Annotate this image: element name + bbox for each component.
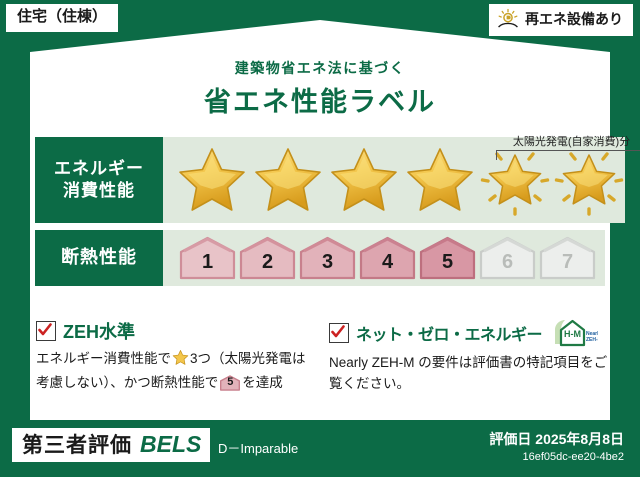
renewable-equipment-badge: 再エネ設備あり: [489, 4, 633, 36]
insulation-badge: 5: [419, 236, 476, 280]
star-icon: [327, 143, 401, 217]
zeh-standard-description: エネルギー消費性能で3つ（太陽光発電は考慮しない）、かつ断熱性能で5を達成: [36, 349, 315, 394]
label-subtitle: 建築物省エネ法に基づく: [0, 58, 640, 78]
evaluation-id: 16ef05dc-ee20-4be2: [522, 452, 624, 463]
star-icon: [175, 143, 249, 217]
label-footer: 第三者評価 BELS D－Imparable 評価日 2025年8月8日 16e…: [0, 420, 640, 477]
insulation-badge-inactive: 7: [539, 236, 596, 280]
insulation-badge-number: 7: [562, 252, 573, 280]
insulation-badge-number: 4: [382, 252, 393, 280]
energy-performance-stars-panel: 太陽光発電(自家消費)分: [163, 137, 625, 223]
insulation-badge: 3: [299, 236, 356, 280]
star-filled: [251, 143, 325, 217]
insulation-label-line1: 断熱性能: [61, 246, 137, 269]
check-icon-svg: [38, 323, 52, 337]
star-icon: [251, 143, 325, 217]
energy-label-line2: 消費性能: [63, 180, 135, 202]
svg-text:H-M: H-M: [564, 329, 581, 339]
insulation-badge-number: 3: [322, 252, 333, 280]
bels-jp-label: 第三者評価: [22, 435, 132, 456]
inline-badge-number: 5: [220, 377, 240, 388]
evaluation-date: 評価日 2025年8月8日: [489, 432, 624, 446]
svg-text:ZEH-M: ZEH-M: [586, 337, 598, 343]
housing-type-label: 住宅（住棟）: [17, 8, 107, 25]
insulation-badge: 2: [239, 236, 296, 280]
zeh-m-logo-icon: H-M Nearly ZEH-M: [552, 318, 598, 348]
star-solar: [479, 143, 551, 217]
inline-star-icon: [172, 349, 189, 373]
insulation-badge-number: 5: [442, 252, 453, 280]
bels-code: D－Imparable: [218, 442, 298, 455]
energy-performance-row: エネルギー 消費性能: [35, 137, 605, 223]
star-icon: [403, 143, 477, 217]
insulation-grade-scale: 1 2 3: [179, 236, 596, 280]
inline-insulation-badge: 5: [220, 375, 240, 391]
star-filled: [175, 143, 249, 217]
check-icon: [36, 321, 56, 341]
star-solar: [553, 143, 625, 217]
star-rating: [175, 143, 625, 217]
net-zero-energy-title: ネット・ゼロ・エネルギー: [356, 321, 542, 345]
insulation-badge: 4: [359, 236, 416, 280]
zeh-desc-part1: エネルギー消費性能で: [36, 351, 171, 366]
energy-label-line1: エネルギー: [54, 158, 144, 180]
insulation-badge-number: 6: [502, 252, 513, 280]
zeh-section: ZEH水準 エネルギー消費性能で3つ（太陽光発電は考慮しない）、かつ断熱性能で5…: [36, 318, 608, 395]
housing-type-tag: 住宅（住棟）: [6, 4, 118, 32]
zeh-standard-header: ZEH水準: [36, 318, 315, 344]
star-filled: [403, 143, 477, 217]
insulation-badge-inactive: 6: [479, 236, 536, 280]
sun-icon: [496, 8, 520, 32]
zeh-desc-part4: を達成: [242, 375, 283, 390]
renewable-badge-label: 再エネ設備あり: [525, 12, 623, 27]
label-title: 省エネ性能ラベル: [0, 80, 640, 119]
star-icon-small: [172, 349, 189, 366]
star-filled: [327, 143, 401, 217]
check-icon-svg: [331, 325, 345, 339]
insulation-performance-label: 断熱性能: [35, 230, 163, 286]
star-solar-icon: [553, 143, 625, 217]
zeh-standard-title: ZEH水準: [63, 318, 135, 344]
net-zero-energy-header: ネット・ゼロ・エネルギー H-M Nearly ZEH-M: [329, 318, 608, 348]
metrics-section: エネルギー 消費性能: [35, 137, 605, 293]
insulation-badge-number: 1: [202, 252, 213, 280]
net-zero-energy-block: ネット・ゼロ・エネルギー H-M Nearly ZEH-M Nearly ZEH…: [329, 318, 608, 395]
net-zero-energy-description: Nearly ZEH-M の要件は評価書の特記項目をご覧ください。: [329, 353, 608, 395]
sun-icon-svg: [496, 8, 520, 32]
bels-en-label: BELS: [140, 433, 201, 456]
bels-certification-box: 第三者評価 BELS: [12, 428, 210, 462]
insulation-badges-panel: 1 2 3: [163, 230, 605, 286]
insulation-performance-row: 断熱性能 1: [35, 230, 605, 286]
zeh-desc-part2: 3つ（太陽光発電: [190, 351, 292, 366]
insulation-badge: 1: [179, 236, 236, 280]
check-icon: [329, 323, 349, 343]
energy-performance-label: エネルギー 消費性能: [35, 137, 163, 223]
zeh-standard-block: ZEH水準 エネルギー消費性能で3つ（太陽光発電は考慮しない）、かつ断熱性能で5…: [36, 318, 315, 395]
star-solar-icon: [479, 143, 551, 217]
insulation-badge-number: 2: [262, 252, 273, 280]
energy-label-card: 住宅（住棟） 再エネ設備あり 建築物省エネ法に基づく 省エネ性能ラベル: [0, 0, 640, 477]
zeh-m-logo: H-M Nearly ZEH-M: [552, 318, 598, 348]
